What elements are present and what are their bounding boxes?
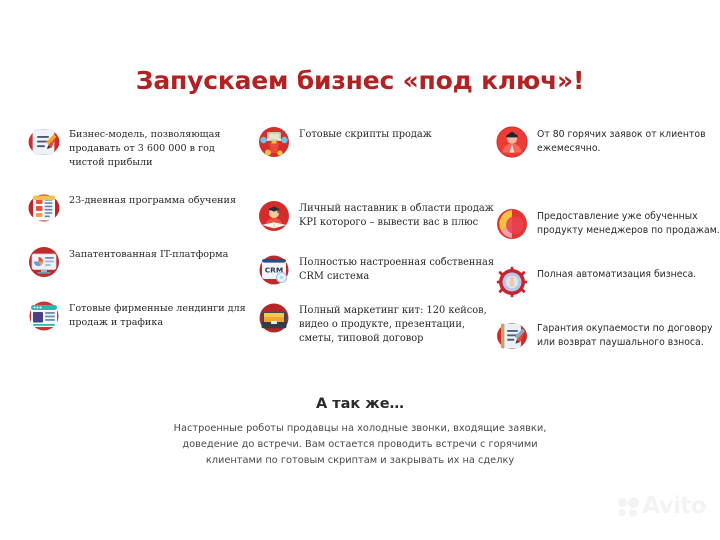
- column-right: От 80 горячих заявок от клиентов ежемеся…: [496, 126, 720, 352]
- list-item: Личный наставник в области продаж KPI ко…: [258, 200, 496, 232]
- list-item: Запатентованная IT-платформа: [28, 246, 248, 278]
- list-item: Полная автоматизация бизнеса.: [496, 266, 720, 298]
- also-body: Настроенные роботы продавцы на холодные …: [150, 421, 570, 469]
- crm-window-icon: CRM: [258, 254, 290, 286]
- gear-automation-icon: [496, 266, 528, 298]
- list-item: Гарантия окупаемости по договору или воз…: [496, 320, 720, 352]
- document-pencil-icon: [28, 126, 60, 158]
- list-item-label: Полный маркетинг кит: 120 кейсов, видео …: [290, 302, 496, 346]
- list-item-label: Личный наставник в области продаж KPI ко…: [290, 200, 496, 230]
- list-item: От 80 горячих заявок от клиентов ежемеся…: [496, 126, 720, 158]
- list-item-label: Гарантия окупаемости по договору или воз…: [528, 320, 720, 349]
- monitor-dashboard-icon: [28, 246, 60, 278]
- landing-page-icon: [28, 300, 60, 332]
- list-item: CRM Полностью настроенная собственная CR…: [258, 254, 496, 286]
- column-middle: Готовые скрипты продаж Личный наставник …: [248, 126, 496, 346]
- avito-watermark-label: Avito: [642, 495, 706, 518]
- script-network-icon: [258, 126, 290, 158]
- briefcase-kit-icon: [258, 302, 290, 334]
- list-item: Готовые фирменные лендинги для продаж и …: [28, 300, 248, 332]
- list-item-label: Бизнес-модель, позволяющая продавать от …: [60, 126, 248, 170]
- contract-pencil-icon: [496, 320, 528, 352]
- pie-chart-icon: [496, 208, 528, 240]
- features-grid: Бизнес-модель, позволяющая продавать от …: [0, 126, 720, 352]
- list-item-label: Запатентованная IT-платформа: [60, 246, 228, 262]
- graduate-book-icon: [258, 200, 290, 232]
- list-item: Бизнес-модель, позволяющая продавать от …: [28, 126, 248, 170]
- checklist-icon: [28, 192, 60, 224]
- list-item-label: Готовые фирменные лендинги для продаж и …: [60, 300, 248, 330]
- page-title: Запускаем бизнес «под ключ»!: [0, 66, 720, 95]
- promo-slide: Запускаем бизнес «под ключ»!: [0, 0, 720, 540]
- person-lead-icon: [496, 126, 528, 158]
- list-item-label: 23-дневная программа обучения: [60, 192, 236, 208]
- list-item-label: От 80 горячих заявок от клиентов ежемеся…: [528, 126, 720, 155]
- list-item-label: Полная автоматизация бизнеса.: [528, 266, 696, 282]
- also-line: доведение до встречи. Вам остается прово…: [150, 437, 570, 453]
- avito-watermark: Avito: [618, 495, 706, 518]
- list-item: 23-дневная программа обучения: [28, 192, 248, 224]
- also-heading: А так же…: [0, 396, 720, 412]
- column-left: Бизнес-модель, позволяющая продавать от …: [0, 126, 248, 332]
- list-item: Полный маркетинг кит: 120 кейсов, видео …: [258, 302, 496, 346]
- list-item: Предоставление уже обученных продукту ме…: [496, 208, 720, 240]
- list-item-label: Полностью настроенная собственная CRM си…: [290, 254, 496, 284]
- list-item: Готовые скрипты продаж: [258, 126, 496, 158]
- avito-dots-icon: [618, 497, 640, 517]
- also-line: клиентами по готовым скриптам и закрыват…: [150, 453, 570, 469]
- also-line: Настроенные роботы продавцы на холодные …: [150, 421, 570, 437]
- list-item-label: Предоставление уже обученных продукту ме…: [528, 208, 720, 237]
- list-item-label: Готовые скрипты продаж: [290, 126, 432, 142]
